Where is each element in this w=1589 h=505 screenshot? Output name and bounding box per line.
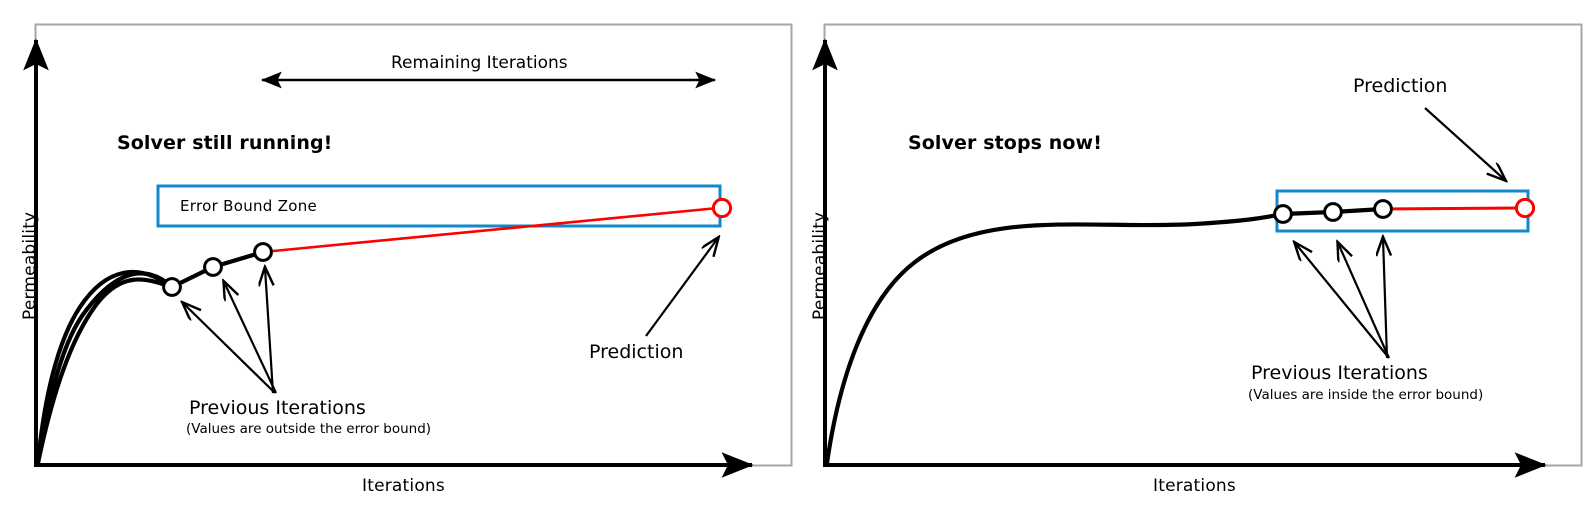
prediction-label: Prediction [589,343,683,362]
iteration-marker [255,244,272,261]
left-panel: Permeability Iterations Remaining Iterat… [0,0,795,505]
panel-border [36,25,792,466]
callout-arrow-iteration-2 [224,282,276,393]
prediction-label: Prediction [1353,77,1447,96]
y-axis-label: Permeability [22,212,39,320]
callout-arrow-iteration-1 [183,303,275,393]
previous-iterations-sublabel: (Values are inside the error bound) [1248,389,1483,403]
y-axis-label: Permeability [812,212,829,320]
solver-status-text: Solver still running! [117,134,332,153]
solver-status-text: Solver stops now! [908,134,1102,153]
permeability-curve [827,214,1283,463]
x-axis-label: Iterations [1153,478,1236,495]
figure-root: Permeability Iterations Remaining Iterat… [0,0,1589,505]
callout-arrow-iteration-1 [1295,243,1389,358]
prediction-line [1383,208,1521,209]
prediction-line [263,208,718,252]
error-bound-zone-label: Error Bound Zone [180,199,317,214]
previous-iterations-label: Previous Iterations [189,399,366,418]
previous-iterations-sublabel: (Values are outside the error bound) [186,423,431,437]
iteration-marker [164,279,181,296]
iteration-marker [1275,206,1292,223]
x-axis-label: Iterations [362,478,445,495]
prediction-marker [1516,199,1533,216]
right-panel-graphic [795,0,1589,505]
callout-arrow-prediction [646,238,718,336]
right-panel: Permeability Iterations Solver stops now… [795,0,1589,505]
callout-arrow-prediction [1425,108,1505,180]
iteration-marker [205,259,222,276]
previous-iterations-label: Previous Iterations [1251,364,1428,383]
remaining-iterations-label: Remaining Iterations [391,55,568,72]
prediction-marker [713,199,730,216]
callout-arrow-iteration-3 [1383,238,1387,358]
iteration-marker [1375,201,1392,218]
callout-arrow-iteration-2 [1338,243,1389,358]
iteration-marker [1325,204,1342,221]
